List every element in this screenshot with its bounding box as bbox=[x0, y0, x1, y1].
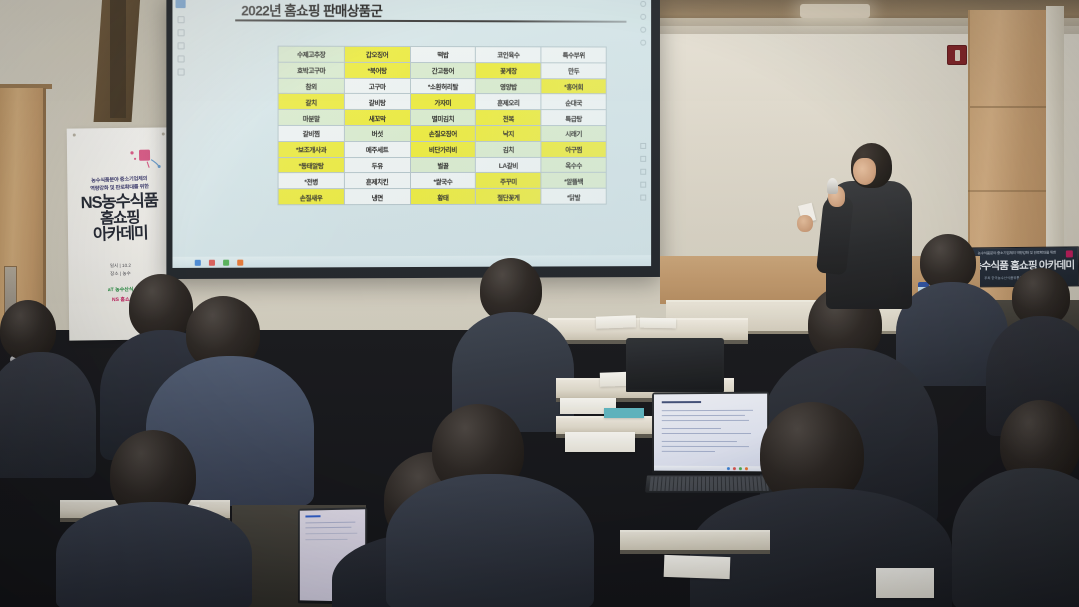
table-cell: 벌꿀 bbox=[410, 157, 476, 173]
ppt-tool-icon[interactable] bbox=[640, 169, 646, 175]
microphone-icon bbox=[827, 178, 838, 194]
app-orange-icon[interactable] bbox=[237, 259, 243, 265]
ppt-tool-icon[interactable] bbox=[640, 156, 646, 162]
laptop-screen bbox=[654, 394, 767, 472]
table-cell: 영양밥 bbox=[476, 78, 541, 94]
table-row: *전병훈제치킨*쌀국수주꾸미*알뜰백 bbox=[278, 173, 606, 189]
paper-sheet bbox=[596, 315, 636, 328]
audience-body-front bbox=[386, 474, 594, 607]
ppt-tool-icon[interactable] bbox=[640, 143, 646, 149]
table-cell: 고구마 bbox=[344, 78, 410, 94]
table-cell: 갈비탕 bbox=[344, 94, 410, 110]
banner-decoration-icon bbox=[125, 143, 163, 171]
paper-notebook bbox=[876, 568, 934, 598]
app-red-icon[interactable] bbox=[209, 259, 215, 265]
chrome-icon[interactable] bbox=[195, 259, 201, 265]
ppt-tool-icon[interactable] bbox=[640, 182, 646, 188]
table-cell: 코인육수 bbox=[476, 47, 541, 63]
table-row: *보조개사과메주세트비단가리비김치아구찜 bbox=[278, 141, 606, 157]
ppt-app-icon bbox=[176, 0, 186, 8]
table-cell: 특수부위 bbox=[541, 47, 606, 63]
table-cell: 절단꽃게 bbox=[476, 188, 541, 204]
table-cell: 전복 bbox=[476, 110, 541, 126]
slide-title-rule bbox=[235, 19, 626, 22]
table-row: 갈치갈비탕가자미훈제오리순대국 bbox=[278, 94, 606, 110]
laptop-taskbar[interactable] bbox=[654, 466, 767, 472]
table-cell: 손질오징어 bbox=[410, 125, 476, 141]
table-cell: 손질새우 bbox=[278, 189, 344, 205]
desk-front-right bbox=[620, 530, 770, 554]
table-cell: 두유 bbox=[344, 157, 410, 173]
table-row: 참외고구마*소환허리탈영양밥*홍어회 bbox=[278, 78, 606, 94]
ppt-tool-icon[interactable] bbox=[640, 1, 646, 7]
table-cell: 특급탕 bbox=[541, 110, 606, 126]
table-row: 갈비찜버섯손질오징어낙지시래기 bbox=[278, 125, 606, 141]
table-cell: 꽃게장 bbox=[476, 62, 541, 78]
ppt-tool-icon[interactable] bbox=[177, 29, 184, 36]
table-cell: *북어탕 bbox=[344, 62, 410, 78]
table-cell: 옥수수 bbox=[541, 157, 606, 173]
ppt-tool-icon[interactable] bbox=[177, 16, 184, 23]
table-cell: 마분말 bbox=[278, 110, 344, 126]
table-cell: 간고등어 bbox=[410, 62, 476, 78]
ppt-tool-icon[interactable] bbox=[177, 42, 184, 49]
table-cell: 냉면 bbox=[344, 189, 410, 205]
table-cell: 별미김치 bbox=[410, 110, 476, 126]
table-row: *동태알탕두유벌꿀LA갈비옥수수 bbox=[278, 157, 606, 173]
table-cell: 떡밥 bbox=[410, 46, 476, 62]
app-green-icon[interactable] bbox=[223, 259, 229, 265]
table-cell: *쌀국수 bbox=[410, 173, 476, 189]
table-cell: 낙지 bbox=[476, 126, 541, 142]
marker-strip bbox=[604, 408, 644, 418]
ceiling-light bbox=[800, 4, 870, 18]
wood-panel-seam bbox=[968, 190, 1046, 192]
table-cell: 새꼬막 bbox=[344, 110, 410, 126]
table-cell: *소환허리탈 bbox=[410, 78, 476, 94]
table-cell: 갑오징어 bbox=[344, 46, 410, 62]
table-cell: *닭발 bbox=[541, 188, 606, 204]
laptop-device-closed[interactable] bbox=[626, 338, 724, 392]
ppt-tool-icon[interactable] bbox=[640, 40, 646, 46]
table-cell: *홍어회 bbox=[541, 78, 606, 94]
fire-alarm-icon bbox=[947, 45, 967, 65]
table-cell: 주꾸미 bbox=[476, 173, 541, 189]
ppt-tool-icon[interactable] bbox=[640, 14, 646, 20]
table-cell: 만두 bbox=[541, 63, 606, 79]
ppt-left-toolbar[interactable] bbox=[173, 0, 187, 168]
table-cell: 훈제오리 bbox=[476, 94, 541, 110]
paper-sheet bbox=[664, 555, 731, 579]
table-cell: 시래기 bbox=[541, 126, 606, 142]
table-cell: 훈제치킨 bbox=[344, 173, 410, 189]
ppt-tool-icon[interactable] bbox=[177, 69, 184, 76]
table-cell: 아구찜 bbox=[541, 141, 606, 157]
table-cell: LA갈비 bbox=[476, 157, 541, 173]
audience-body bbox=[0, 352, 96, 478]
table-cell: 갈비찜 bbox=[278, 125, 344, 141]
table-cell: 참외 bbox=[278, 78, 344, 94]
table-cell: 메주세트 bbox=[344, 141, 410, 157]
paper-sheet bbox=[640, 318, 676, 329]
product-category-table: 수제고추장갑오징어떡밥코인육수특수부위호박고구마*북어탕간고등어꽃게장만두참외고… bbox=[278, 46, 607, 206]
table-cell: 수제고추장 bbox=[278, 46, 344, 62]
table-cell: 호박고구마 bbox=[278, 62, 344, 78]
lecture-room-photo: 농수식품분야 중소기업체의 역량강화 및 판로확대를 위한 NS농수식품 홈쇼핑… bbox=[0, 0, 1079, 607]
table-cell: 갈치 bbox=[278, 94, 344, 110]
table-cell: 비단가리비 bbox=[410, 141, 476, 157]
table-cell: *전병 bbox=[278, 173, 344, 189]
ppt-tool-icon[interactable] bbox=[177, 55, 184, 62]
table-cell: *동태알탕 bbox=[278, 157, 344, 173]
laptop-device[interactable] bbox=[652, 392, 769, 475]
table-cell: 버섯 bbox=[344, 125, 410, 141]
slide-title: 2022년 홈쇼핑 판매상품군 bbox=[241, 0, 382, 20]
projection-screen: 2022년 홈쇼핑 판매상품군 수제고추장갑오징어떡밥코인육수특수부위호박고구마… bbox=[172, 0, 651, 268]
presenter-face bbox=[853, 158, 876, 185]
audience-body-front bbox=[952, 468, 1079, 607]
paper-sheet bbox=[565, 432, 635, 452]
table-cell: *알뜰백 bbox=[541, 173, 606, 189]
audience-head bbox=[0, 300, 56, 360]
table-row: 마분말새꼬막별미김치전복특급탕 bbox=[278, 110, 606, 126]
projection-screen-frame: 2022년 홈쇼핑 판매상품군 수제고추장갑오징어떡밥코인육수특수부위호박고구마… bbox=[166, 0, 660, 279]
table-cell: 김치 bbox=[476, 141, 541, 157]
table-row: 호박고구마*북어탕간고등어꽃게장만두 bbox=[278, 62, 606, 78]
laptop-screen-off bbox=[628, 340, 722, 389]
ppt-tool-icon[interactable] bbox=[640, 195, 646, 201]
table-cell: 황태 bbox=[410, 189, 476, 205]
banner-title: NS농수식품 홈쇼핑 아카데미 bbox=[67, 192, 173, 245]
table-cell: 순대국 bbox=[541, 94, 606, 110]
ppt-right-toolbar-top[interactable] bbox=[637, 1, 649, 100]
table-cell: 가자미 bbox=[410, 94, 476, 110]
windows-taskbar[interactable] bbox=[172, 255, 651, 268]
presenter-hand-left bbox=[797, 215, 813, 232]
table-cell: *보조개사과 bbox=[278, 141, 344, 157]
laptop-keyboard[interactable] bbox=[645, 476, 773, 493]
ppt-tool-icon[interactable] bbox=[640, 27, 646, 33]
room-door[interactable] bbox=[0, 88, 46, 330]
wall-frame-dark-inner bbox=[110, 0, 126, 118]
table-row: 손질새우냉면황태절단꽃게*닭발 bbox=[278, 188, 606, 204]
table-row: 수제고추장갑오징어떡밥코인육수특수부위 bbox=[278, 46, 606, 63]
audience-body-front bbox=[56, 502, 252, 607]
ppt-right-toolbar-bottom[interactable] bbox=[637, 143, 649, 252]
